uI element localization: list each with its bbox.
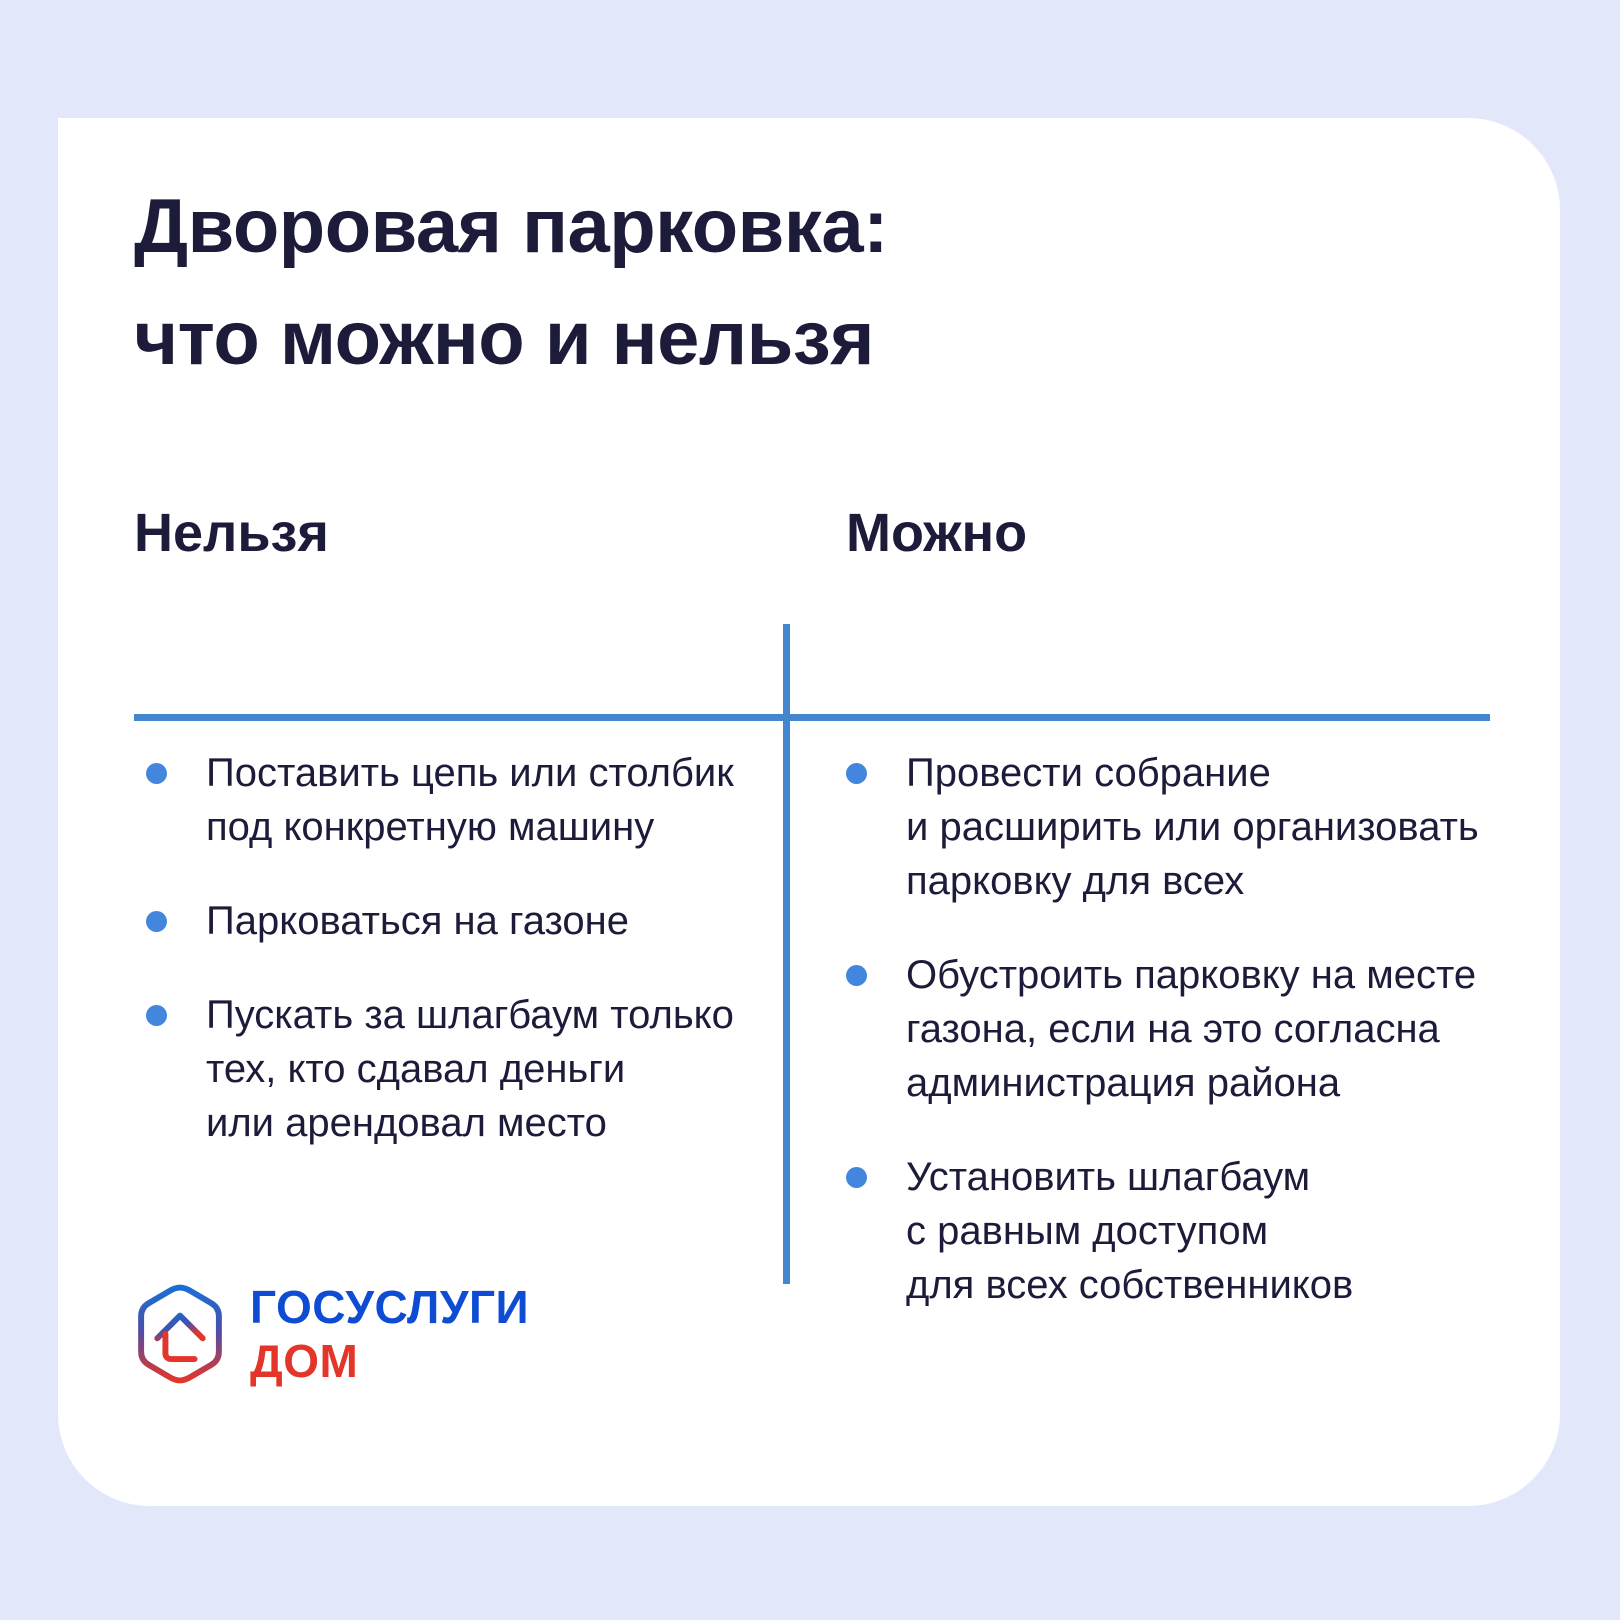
bullet-dot-icon xyxy=(146,763,167,784)
list-item: Установить шлагбаум с равным доступом дл… xyxy=(834,1150,1494,1312)
brand-logo: ГОСУСЛУГИ ДОМ xyxy=(126,1280,529,1388)
comparison-table: Нельзя Можно Поставить цепь или столбик … xyxy=(134,488,1490,584)
list-item-text: Установить шлагбаум с равным доступом дл… xyxy=(906,1155,1353,1307)
list-forbidden: Поставить цепь или столбик под конкретну… xyxy=(134,746,754,1150)
list-item: Провести собрание и расширить или органи… xyxy=(834,746,1494,908)
title-line-1: Дворовая парковка: xyxy=(134,180,1334,274)
list-item-text: Пускать за шлагбаум только тех, кто сдав… xyxy=(206,993,734,1145)
infographic-root: Дворовая парковка: что можно и нельзя Не… xyxy=(0,0,1620,1620)
list-item-text: Парковаться на газоне xyxy=(206,899,629,943)
horizontal-divider xyxy=(134,714,1490,721)
logo-word-dom: ДОМ xyxy=(250,1336,529,1386)
list-item: Парковаться на газоне xyxy=(134,894,754,948)
bullet-dot-icon xyxy=(846,965,867,986)
bullet-dot-icon xyxy=(846,763,867,784)
bullet-dot-icon xyxy=(146,1005,167,1026)
content-card: Дворовая парковка: что можно и нельзя Не… xyxy=(58,118,1560,1506)
list-item-text: Провести собрание и расширить или органи… xyxy=(906,751,1479,903)
column-header-forbidden: Нельзя xyxy=(134,502,329,564)
page-title: Дворовая парковка: что можно и нельзя xyxy=(134,180,1334,386)
column-headers: Нельзя Можно xyxy=(134,488,1490,584)
list-item-text: Обустроить парковку на месте газона, есл… xyxy=(906,953,1476,1105)
list-item: Поставить цепь или столбик под конкретну… xyxy=(134,746,754,854)
list-item-text: Поставить цепь или столбик под конкретну… xyxy=(206,751,734,849)
list-allowed: Провести собрание и расширить или органи… xyxy=(834,746,1494,1312)
title-line-2: что можно и нельзя xyxy=(134,292,1334,386)
bullet-dot-icon xyxy=(846,1167,867,1188)
list-item: Обустроить парковку на месте газона, есл… xyxy=(834,948,1494,1110)
column-header-allowed: Можно xyxy=(846,502,1027,564)
bullet-dot-icon xyxy=(146,911,167,932)
logo-wordmark: ГОСУСЛУГИ ДОМ xyxy=(250,1282,529,1386)
list-item: Пускать за шлагбаум только тех, кто сдав… xyxy=(134,988,754,1150)
logo-word-gosuslugi: ГОСУСЛУГИ xyxy=(250,1282,529,1332)
vertical-divider xyxy=(783,624,790,1284)
house-hexagon-icon xyxy=(126,1280,234,1388)
